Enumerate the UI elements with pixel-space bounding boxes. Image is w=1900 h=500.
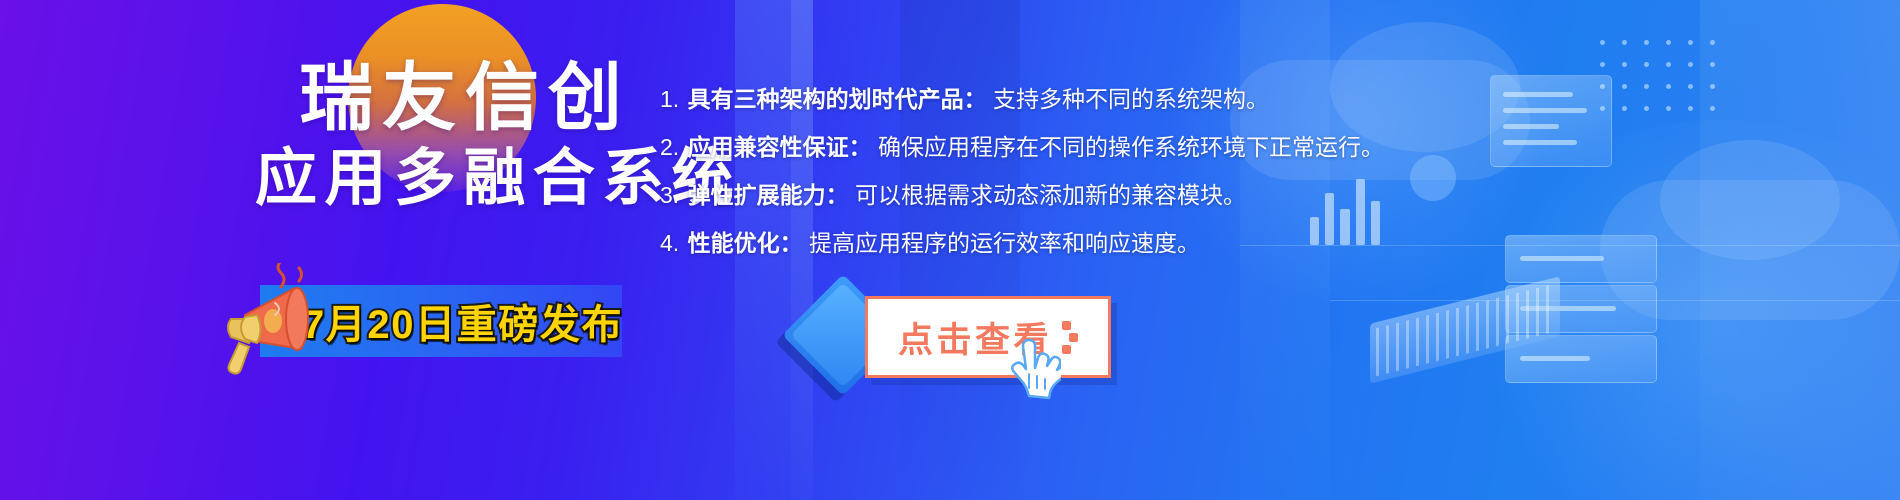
banner-title: 瑞友信创 应用多融合系统	[255, 60, 675, 211]
title-line-2: 应用多融合系统	[255, 147, 675, 210]
feature-detail: 提高应用程序的运行效率和响应速度。	[809, 230, 1200, 256]
feature-number: 1.	[660, 86, 679, 112]
promo-banner: 瑞友信创 应用多融合系统 7月20日重磅发布 1. 具有三种架构的划时代产品： …	[0, 0, 1900, 500]
feature-item: 1. 具有三种架构的划时代产品： 支持多种不同的系统架构。	[660, 88, 1620, 111]
megaphone-icon	[215, 263, 335, 378]
chevron-dots-icon	[1062, 321, 1078, 354]
title-line-1: 瑞友信创	[255, 60, 675, 135]
feature-item: 3. 弹性扩展能力： 可以根据需求动态添加新的兼容模块。	[660, 184, 1620, 207]
feature-number: 4.	[660, 230, 679, 256]
feature-detail: 可以根据需求动态添加新的兼容模块。	[855, 182, 1246, 208]
release-date-badge: 7月20日重磅发布	[250, 285, 622, 357]
feature-item: 2. 应用兼容性保证： 确保应用程序在不同的操作系统环境下正常运行。	[660, 136, 1620, 159]
feature-heading: 具有三种架构的划时代产品：	[688, 86, 987, 112]
feature-heading: 应用兼容性保证：	[688, 134, 872, 160]
dot-grid-decoration	[1600, 40, 1770, 160]
date-badge-text: 7月20日重磅发布	[310, 293, 615, 349]
feature-heading: 性能优化：	[688, 230, 803, 256]
view-details-button[interactable]: 点击查看	[865, 296, 1111, 378]
feature-heading: 弹性扩展能力：	[688, 182, 849, 208]
feature-item: 4. 性能优化： 提高应用程序的运行效率和响应速度。	[660, 232, 1620, 255]
feature-number: 2.	[660, 134, 679, 160]
feature-number: 3.	[660, 182, 679, 208]
feature-detail: 确保应用程序在不同的操作系统环境下正常运行。	[878, 134, 1384, 160]
hand-cursor-icon	[1005, 338, 1061, 408]
feature-list: 1. 具有三种架构的划时代产品： 支持多种不同的系统架构。 2. 应用兼容性保证…	[660, 88, 1620, 280]
feature-detail: 支持多种不同的系统架构。	[993, 86, 1269, 112]
